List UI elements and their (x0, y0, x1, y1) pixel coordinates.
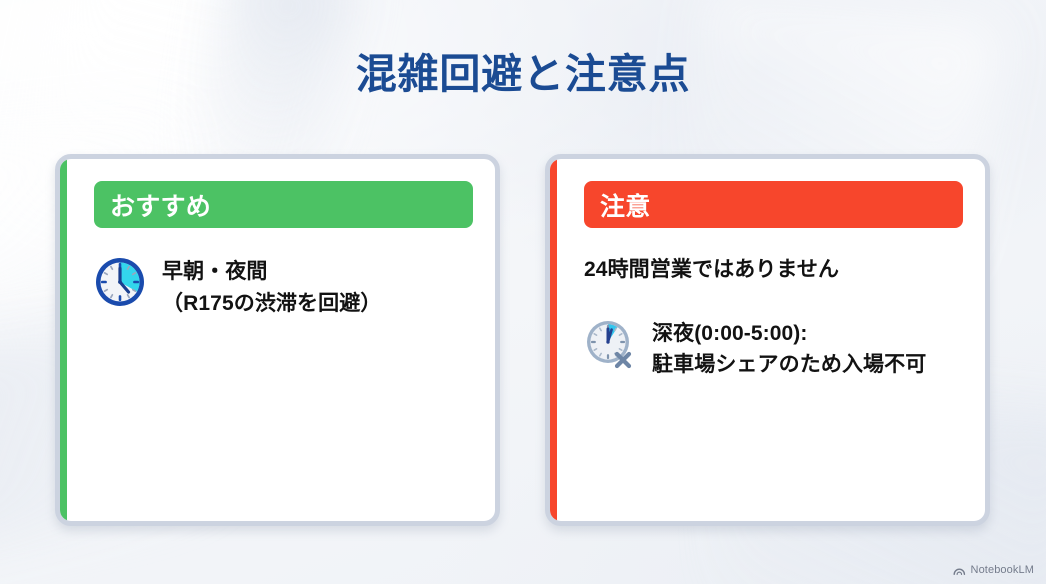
card-recommend: おすすめ (55, 154, 500, 526)
card-header-label: おすすめ (110, 187, 211, 223)
clock-disabled-icon (584, 318, 636, 370)
notebooklm-label: NotebookLM (971, 564, 1034, 576)
list-item: 早朝・夜間 （R175の渋滞を回避） (94, 254, 473, 320)
list-item-line2: 駐車場シェアのため入場不可 (652, 349, 926, 381)
clock-icon (94, 256, 146, 308)
list-item: 深夜(0:00-5:00): 駐車場シェアのため入場不可 (584, 316, 963, 382)
page-title: 混雑回避と注意点 (0, 50, 1046, 99)
card-header-recommend: おすすめ (94, 181, 473, 228)
notebooklm-watermark: NotebookLM (953, 564, 1034, 576)
card-header-caution: 注意 (584, 181, 963, 228)
list-item-line1: 早朝・夜間 (162, 260, 268, 283)
list-item-line1: 深夜(0:00-5:00): (652, 322, 808, 345)
card-body-caution: 24時間営業ではありません (584, 254, 963, 381)
card-header-label: 注意 (600, 187, 651, 223)
list-item-text: 早朝・夜間 （R175の渋滞を回避） (162, 254, 381, 320)
list-item-line2: （R175の渋滞を回避） (162, 288, 381, 320)
list-item-text: 深夜(0:00-5:00): 駐車場シェアのため入場不可 (652, 316, 926, 382)
card-body-recommend: 早朝・夜間 （R175の渋滞を回避） (94, 254, 473, 320)
caution-note: 24時間営業ではありません (584, 254, 963, 286)
notebooklm-logo-icon (953, 565, 966, 576)
slide-canvas: 混雑回避と注意点 おすすめ (0, 0, 1046, 584)
card-caution: 注意 24時間営業ではありません (545, 154, 990, 526)
